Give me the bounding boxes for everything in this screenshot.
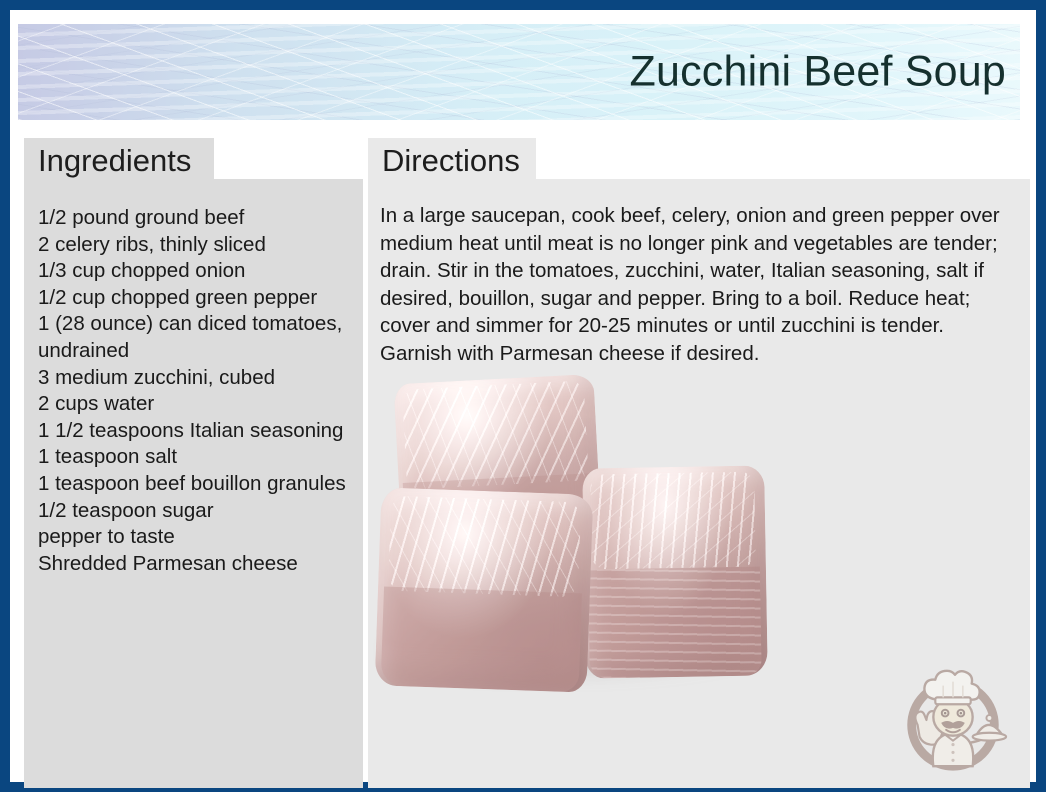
- ingredients-heading: Ingredients: [38, 145, 191, 176]
- list-item: 1 (28 ounce) can diced tomatoes, undrain…: [38, 311, 351, 364]
- beef-cube-right: [582, 465, 768, 678]
- ingredients-header-tab: Ingredients: [24, 138, 214, 182]
- raw-beef-cubes-photo: [368, 371, 788, 701]
- slide-content-area: Zucchini Beef Soup Ingredients Direction…: [10, 10, 1036, 782]
- beef-cube-front: [375, 487, 594, 692]
- chef-logo: [894, 660, 1012, 778]
- beef-grain-texture: [590, 472, 756, 570]
- list-item: 2 celery ribs, thinly sliced: [38, 232, 351, 259]
- beef-cube-face: [588, 566, 762, 678]
- page-title: Zucchini Beef Soup: [630, 48, 1007, 97]
- directions-heading: Directions: [382, 145, 520, 176]
- ingredients-panel: 1/2 pound ground beef 2 celery ribs, thi…: [24, 179, 363, 788]
- list-item: 1/2 cup chopped green pepper: [38, 285, 351, 312]
- list-item: 2 cups water: [38, 391, 351, 418]
- list-item: Shredded Parmesan cheese: [38, 551, 351, 578]
- list-item: 1 teaspoon beef bouillon granules: [38, 471, 351, 498]
- beef-grain-texture: [388, 496, 581, 598]
- recipe-slide: Zucchini Beef Soup Ingredients Direction…: [0, 0, 1046, 792]
- list-item: 1 teaspoon salt: [38, 444, 351, 471]
- directions-panel: In a large saucepan, cook beef, celery, …: [368, 179, 1030, 788]
- directions-body-text: In a large saucepan, cook beef, celery, …: [380, 202, 1014, 367]
- list-item: 1/2 pound ground beef: [38, 205, 351, 232]
- beef-cube-face: [381, 587, 582, 693]
- beef-grain-texture: [402, 380, 589, 489]
- list-item: 1/3 cup chopped onion: [38, 258, 351, 285]
- list-item: 1 1/2 teaspoons Italian seasoning: [38, 418, 351, 445]
- directions-header-tab: Directions: [368, 138, 536, 182]
- list-item: 1/2 teaspoon sugar: [38, 498, 351, 525]
- ingredients-list: 1/2 pound ground beef 2 celery ribs, thi…: [38, 205, 351, 577]
- list-item: pepper to taste: [38, 524, 351, 551]
- list-item: 3 medium zucchini, cubed: [38, 365, 351, 392]
- title-banner: Zucchini Beef Soup: [18, 24, 1020, 120]
